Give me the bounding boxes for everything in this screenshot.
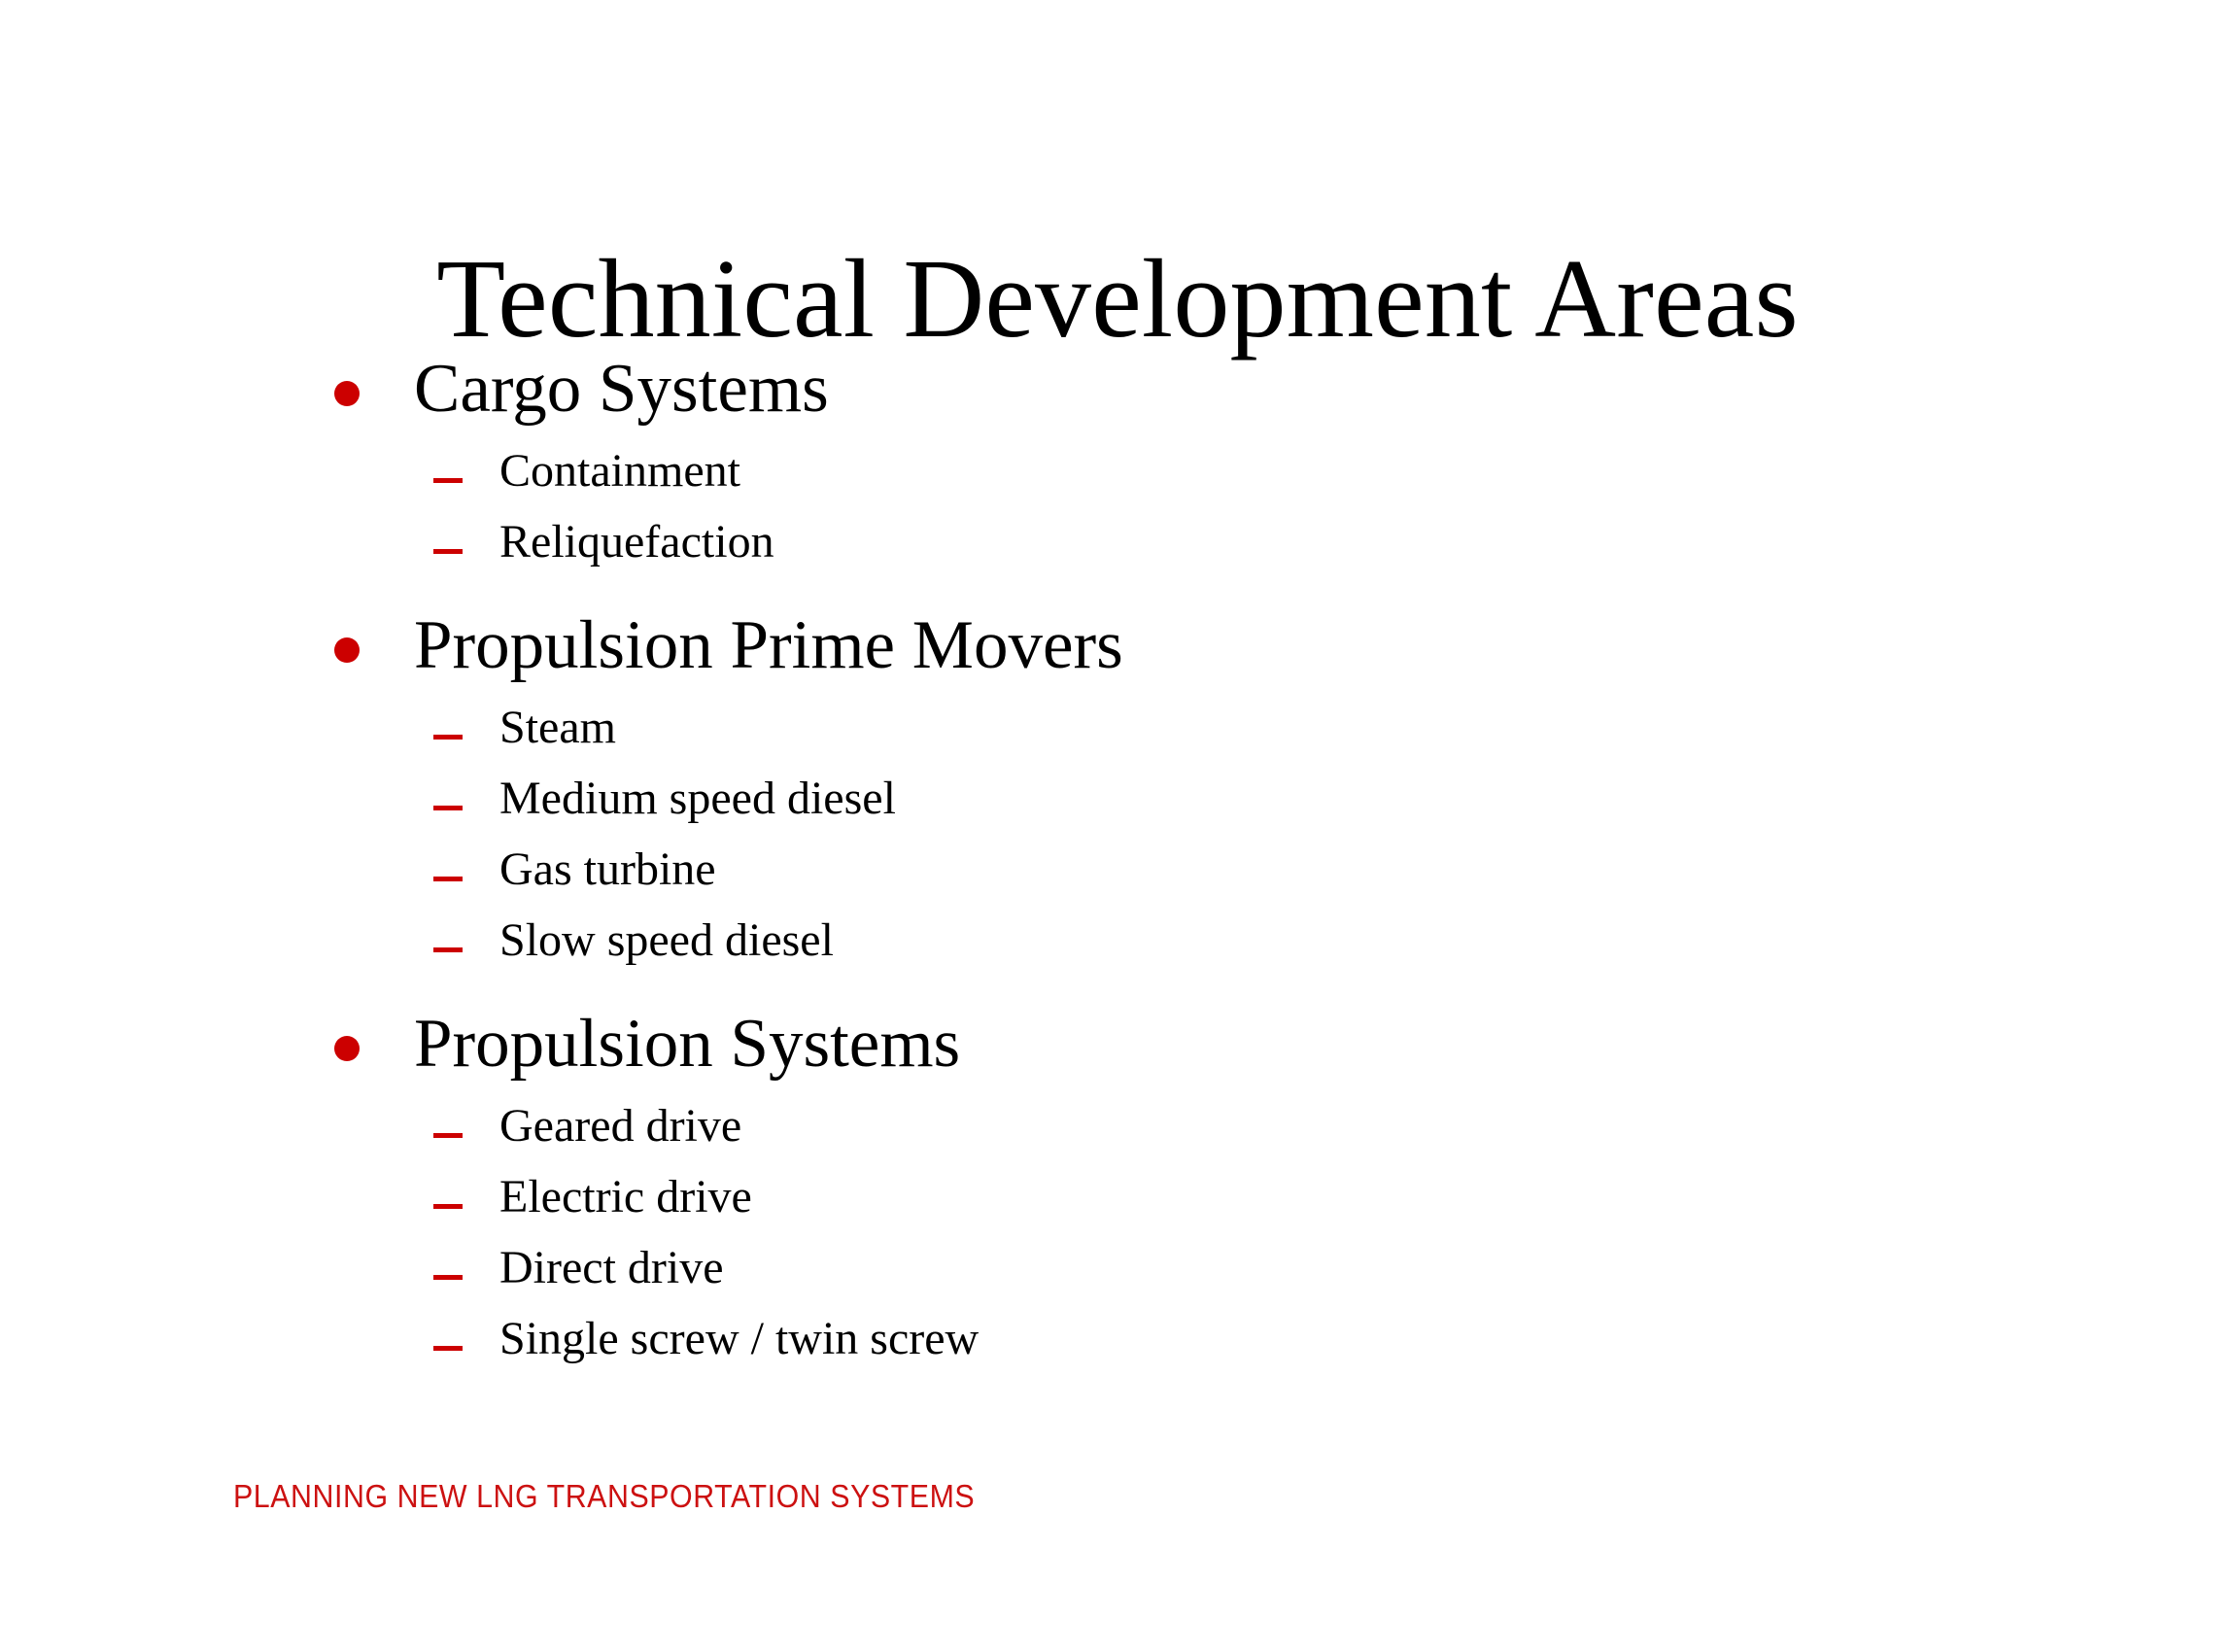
outline-level2-item: Slow speed diesel (292, 907, 2041, 978)
outline-level1-item: Cargo Systems (292, 342, 2041, 437)
outline-level1-item: Propulsion Systems (292, 997, 2041, 1092)
outline-level2-label: Steam (499, 694, 616, 762)
outline-level2-label: Reliquefaction (499, 508, 774, 576)
outline-level2-item: Medium speed diesel (292, 765, 2041, 836)
outline-level2-item: Direct drive (292, 1234, 2041, 1305)
outline-level2-label: Single screw / twin screw (499, 1305, 979, 1373)
outline-level2-item: Electric drive (292, 1163, 2041, 1234)
presentation-slide: Technical Development Areas Cargo System… (0, 0, 2235, 1652)
en-dash-bullet-icon (433, 806, 463, 810)
outline-level2-label: Slow speed diesel (499, 907, 834, 975)
outline-level2-label: Containment (499, 437, 740, 505)
outline-group-spacer (292, 978, 2041, 997)
outline-level1-label: Propulsion Systems (414, 997, 960, 1090)
outline-level2-label: Gas turbine (499, 836, 716, 904)
filled-circle-bullet-icon (334, 637, 360, 663)
outline-level2-item: Gas turbine (292, 836, 2041, 907)
outline-level1-label: Propulsion Prime Movers (414, 599, 1123, 692)
en-dash-bullet-icon (433, 478, 463, 483)
outline-level1-item: Propulsion Prime Movers (292, 599, 2041, 694)
outline-level2-label: Electric drive (499, 1163, 752, 1231)
outline-level2-item: Containment (292, 437, 2041, 508)
en-dash-bullet-icon (433, 1275, 463, 1280)
filled-circle-bullet-icon (334, 381, 360, 406)
filled-circle-bullet-icon (334, 1036, 360, 1061)
en-dash-bullet-icon (433, 1204, 463, 1209)
en-dash-bullet-icon (433, 1346, 463, 1351)
slide-body-outline: Cargo Systems Containment Reliquefaction… (292, 342, 2041, 1376)
en-dash-bullet-icon (433, 1133, 463, 1138)
outline-level2-item: Reliquefaction (292, 508, 2041, 579)
outline-level2-item: Single screw / twin screw (292, 1305, 2041, 1376)
outline-level2-label: Medium speed diesel (499, 765, 896, 833)
outline-level1-label: Cargo Systems (414, 342, 829, 435)
slide-footer: PLANNING NEW LNG TRANSPORTATION SYSTEMS (233, 1478, 975, 1515)
outline-level2-item: Steam (292, 694, 2041, 765)
outline-level2-item: Geared drive (292, 1092, 2041, 1163)
en-dash-bullet-icon (433, 877, 463, 881)
outline-level2-label: Direct drive (499, 1234, 724, 1302)
en-dash-bullet-icon (433, 947, 463, 952)
en-dash-bullet-icon (433, 735, 463, 740)
outline-group-spacer (292, 579, 2041, 599)
en-dash-bullet-icon (433, 549, 463, 554)
outline-level2-label: Geared drive (499, 1092, 741, 1160)
